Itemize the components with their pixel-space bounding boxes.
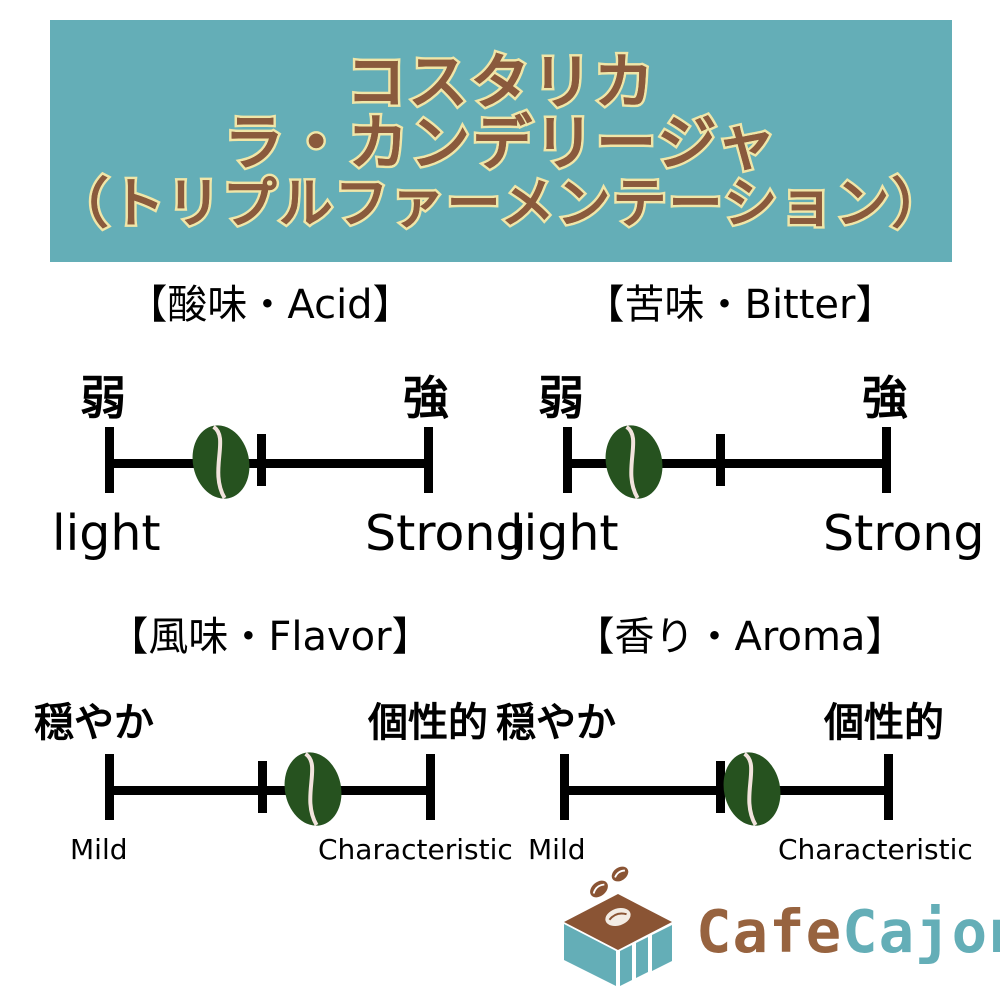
section-title-flavor: 【風味・Flavor】 bbox=[60, 604, 480, 662]
flavor-bean-marker bbox=[277, 745, 349, 833]
section-title-acid: 【酸味・Acid】 bbox=[60, 272, 480, 330]
flavor-right-label-en: Characteristic bbox=[318, 833, 513, 866]
brand-logo: CafeCajon bbox=[548, 862, 988, 994]
bitter-tick-left bbox=[563, 427, 572, 493]
bitter-right-label-en: Strong bbox=[823, 505, 985, 562]
acid-bean-marker bbox=[185, 418, 257, 506]
flavor-tick-right bbox=[426, 754, 435, 820]
section-title-aroma: 【香り・Aroma】 bbox=[520, 604, 960, 662]
title-banner: コスタリカ ラ・カンデリージャ （トリプルファーメンテーション） bbox=[50, 20, 952, 262]
flavor-axis-line bbox=[105, 786, 430, 795]
logo-word-cafe: Cafe bbox=[696, 897, 842, 966]
flavor-right-label-jp: 個性的 bbox=[368, 690, 488, 748]
acid-tick-left bbox=[105, 427, 114, 493]
bitter-left-label-jp: 弱 bbox=[538, 362, 584, 428]
aroma-bean-marker bbox=[716, 745, 788, 833]
title-line-2: ラ・カンデリージャ bbox=[224, 114, 778, 175]
infographic-root: コスタリカ ラ・カンデリージャ （トリプルファーメンテーション） 【酸味・Aci… bbox=[0, 0, 1000, 1000]
acid-left-label-en: light bbox=[52, 505, 161, 562]
flavor-tick-mid bbox=[258, 761, 267, 813]
floating-bean-1 bbox=[609, 864, 631, 885]
bitter-right-label-jp: 強 bbox=[862, 362, 908, 428]
logo-word-cajon: Cajon bbox=[842, 897, 1000, 966]
section-title-bitter: 【苦味・Bitter】 bbox=[520, 272, 960, 330]
acid-axis-line bbox=[105, 459, 429, 468]
bitter-tick-right bbox=[882, 427, 891, 493]
aroma-left-label-jp: 穏やか bbox=[496, 690, 616, 748]
title-line-3: （トリプルファーメンテーション） bbox=[55, 176, 948, 231]
cajon-box-icon bbox=[548, 862, 688, 994]
aroma-tick-right bbox=[884, 754, 893, 820]
acid-left-label-jp: 弱 bbox=[80, 362, 126, 428]
bitter-bean-marker bbox=[598, 418, 670, 506]
aroma-right-label-jp: 個性的 bbox=[824, 690, 944, 748]
bitter-left-label-en: light bbox=[510, 505, 619, 562]
flavor-left-label-jp: 穏やか bbox=[34, 690, 154, 748]
flavor-tick-left bbox=[105, 754, 114, 820]
acid-right-label-jp: 強 bbox=[403, 362, 449, 428]
flavor-left-label-en: Mild bbox=[70, 833, 128, 866]
bitter-tick-mid bbox=[716, 434, 725, 486]
acid-tick-mid bbox=[257, 434, 266, 486]
aroma-tick-left bbox=[560, 754, 569, 820]
logo-wordmark: CafeCajon bbox=[696, 902, 1000, 961]
title-line-1: コスタリカ bbox=[346, 53, 656, 114]
acid-right-label-en: Strong bbox=[365, 505, 527, 562]
acid-tick-right bbox=[424, 427, 433, 493]
floating-bean-2 bbox=[587, 877, 611, 901]
